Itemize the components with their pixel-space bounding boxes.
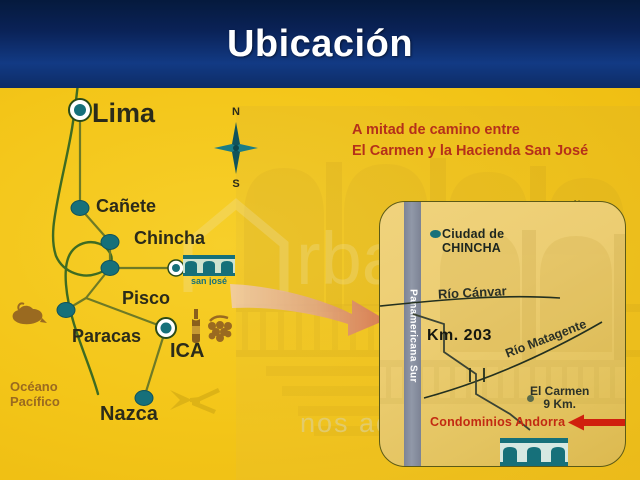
ocean-line-1: Océano [10, 380, 60, 395]
inset-label-ciudad-chincha: Ciudad de CHINCHA [442, 228, 504, 256]
ocean-line-2: Pacífico [10, 395, 60, 410]
page-title: Ubicación [227, 23, 413, 66]
logo-text-main: san josé [191, 276, 227, 285]
map-label-pisco: Pisco [122, 288, 170, 309]
red-left-arrow-icon [568, 414, 626, 431]
map-label-chincha: Chincha [134, 228, 205, 249]
map-label-canete: Cañete [96, 196, 156, 217]
map-label-lima: Lima [92, 98, 155, 129]
caption-line-2: El Carmen y la Hacienda San José [352, 141, 588, 162]
map-label-nazca: Nazca [100, 403, 158, 426]
hacienda-san-jose-logo-main: san josé [181, 251, 237, 285]
caption-block: A mitad de camino entre El Carmen y la H… [352, 120, 588, 162]
slide-ubicacion: Ubicación [0, 0, 640, 480]
chincha-city-dot [430, 230, 441, 238]
pelican-icon [8, 300, 48, 330]
ciudad-chincha-line-2: CHINCHA [442, 242, 504, 256]
nazca-lines-bird-icon [166, 380, 224, 420]
ciudad-chincha-line-1: Ciudad de [442, 228, 504, 242]
inset-label-el-carmen: El Carmen 9 Km. [530, 385, 589, 411]
inset-label-condominios-andorra: Condominios Andorra [430, 415, 565, 429]
map-canvas: rba nos adoramos [0, 88, 640, 480]
el-carmen-line-2: 9 Km. [530, 398, 589, 411]
inset-detail-map: Panamericana Sur Ciudad de CHINCHA Río C… [379, 201, 626, 467]
slide-title-bar: Ubicación [0, 0, 640, 88]
pointer-arrow-to-inset [228, 266, 388, 338]
hacienda-san-jose-logo-inset: san josé [498, 434, 570, 467]
compass-south-label: S [232, 178, 239, 190]
map-label-ica: ICA [170, 340, 204, 363]
map-label-paracas: Paracas [72, 326, 141, 347]
compass-rose-main: N S [214, 108, 258, 188]
inset-label-km-203: Km. 203 [427, 327, 492, 345]
map-label-ocean: Océano Pacífico [10, 380, 60, 410]
caption-line-1: A mitad de camino entre [352, 120, 588, 141]
